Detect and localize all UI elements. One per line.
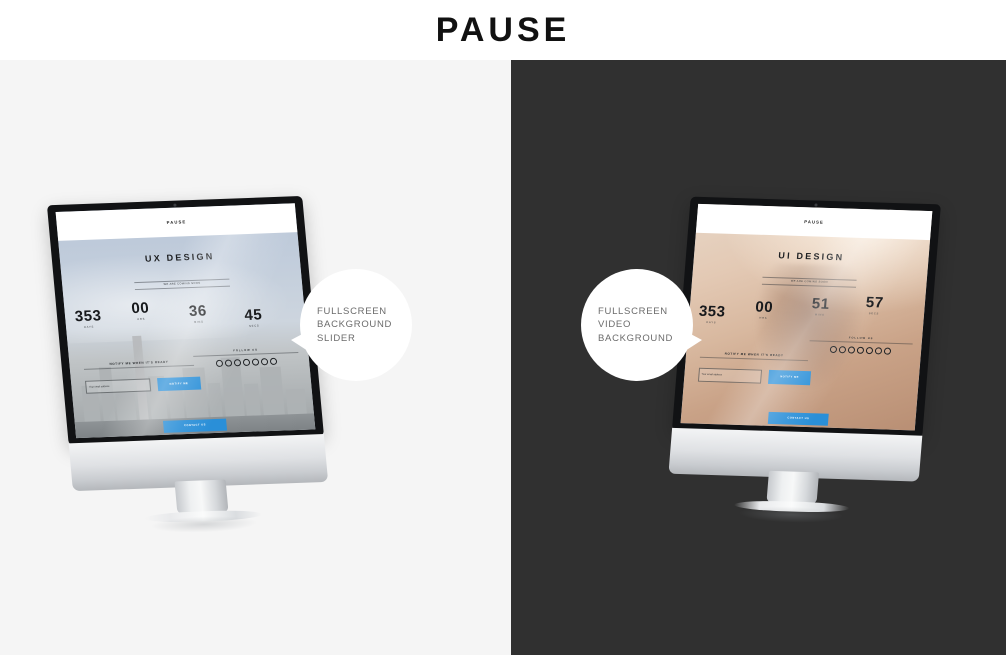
social-icon[interactable] <box>234 359 242 366</box>
monitor-reflection-left <box>150 514 259 534</box>
site-subtitle: WE ARE COMING SOON <box>134 279 230 290</box>
callout-bubble-right: FULLSCREEN VIDEO BACKGROUND <box>581 269 693 381</box>
monitor-stand-neck-right <box>766 471 819 504</box>
follow-section-left: FOLLOW US <box>193 347 300 368</box>
countdown-unit: 00 HRS <box>754 299 773 319</box>
website-preview-right: PAUSE UI DESIGN WE ARE COMING SOON 353 D… <box>681 204 933 430</box>
countdown-label: HRS <box>132 318 150 322</box>
notify-label: NOTIFY ME WHEN IT'S READY <box>84 359 195 370</box>
panel-right: PAUSE UI DESIGN WE ARE COMING SOON 353 D… <box>511 60 1006 655</box>
countdown-unit: 51 MINS <box>811 297 830 317</box>
countdown-label: DAYS <box>76 325 103 329</box>
countdown-label: MINS <box>190 320 208 324</box>
site-logo: PAUSE <box>804 219 824 225</box>
countdown-unit: 36 MINS <box>188 303 208 324</box>
countdown-value: 00 <box>131 301 150 317</box>
countdown-value: 36 <box>188 303 207 319</box>
site-heading: UI DESIGN <box>694 248 929 265</box>
email-field[interactable]: Your email address <box>698 368 762 383</box>
callout-text-right: FULLSCREEN VIDEO BACKGROUND <box>592 305 682 344</box>
countdown-unit: 353 DAYS <box>698 303 726 324</box>
social-icon[interactable] <box>865 347 873 354</box>
countdown-value: 51 <box>811 297 830 313</box>
imac-mockup-left: PAUSE UX DESIGN WE ARE COMING SOON 353 D… <box>47 196 332 534</box>
social-icons-row <box>808 345 912 355</box>
website-preview-left: PAUSE UX DESIGN WE ARE COMING SOON 353 D… <box>56 203 315 438</box>
follow-section-right: FOLLOW US <box>808 335 912 355</box>
notify-form-right: Your email address NOTIFY ME <box>698 368 811 385</box>
social-icon[interactable] <box>838 346 846 353</box>
imac-mockup-right: PAUSE UI DESIGN WE ARE COMING SOON 353 D… <box>665 197 941 524</box>
callout-right: FULLSCREEN VIDEO BACKGROUND <box>581 269 693 381</box>
callout-text-left: FULLSCREEN BACKGROUND SLIDER <box>311 305 401 344</box>
social-icon[interactable] <box>216 360 224 367</box>
social-icon[interactable] <box>883 347 891 354</box>
social-icons-row <box>194 357 300 368</box>
social-icon[interactable] <box>252 358 260 365</box>
social-icon[interactable] <box>270 358 278 365</box>
countdown-label: HRS <box>754 316 772 320</box>
social-icon[interactable] <box>243 359 251 366</box>
callout-tail-right <box>685 331 702 351</box>
countdown-unit: 00 HRS <box>131 301 151 322</box>
social-icon[interactable] <box>261 358 269 365</box>
contact-button[interactable]: CONTACT US <box>767 412 829 425</box>
monitor-stand-neck-left <box>174 479 228 514</box>
site-heading: UX DESIGN <box>60 248 300 267</box>
notify-button[interactable]: NOTIFY ME <box>768 370 812 385</box>
countdown-label: DAYS <box>698 320 725 324</box>
notify-label: NOTIFY ME WHEN IT'S READY <box>700 351 808 361</box>
site-logo: PAUSE <box>166 219 186 225</box>
site-content-right: UI DESIGN WE ARE COMING SOON 353 DAYS <box>681 232 930 430</box>
countdown-value: 45 <box>244 307 263 323</box>
monitor-screen-right: PAUSE UI DESIGN WE ARE COMING SOON 353 D… <box>681 204 933 430</box>
social-icon[interactable] <box>225 359 233 366</box>
social-icon[interactable] <box>847 346 855 353</box>
countdown-unit: 45 SECS <box>244 307 264 328</box>
camera-icon <box>814 203 817 206</box>
email-field[interactable]: Your email address <box>85 378 150 394</box>
monitor-screen-left: PAUSE UX DESIGN WE ARE COMING SOON 353 D… <box>56 203 315 438</box>
page-header: PAUSE <box>0 0 1006 60</box>
social-icon[interactable] <box>856 347 864 354</box>
site-content-left: UX DESIGN WE ARE COMING SOON 353 DAYS <box>58 233 315 438</box>
page-title: PAUSE <box>436 13 571 47</box>
countdown-label: MINS <box>811 314 829 318</box>
camera-icon <box>173 204 176 207</box>
monitor-body-left: PAUSE UX DESIGN WE ARE COMING SOON 353 D… <box>47 196 324 445</box>
countdown-unit: 57 SECS <box>865 295 884 315</box>
monitor-reflection-right <box>737 505 843 524</box>
countdown-label: SECS <box>245 324 263 328</box>
countdown-value: 57 <box>865 295 884 311</box>
site-subtitle: WE ARE COMING SOON <box>762 276 856 287</box>
countdown-value: 00 <box>755 299 774 315</box>
panel-left: PAUSE UX DESIGN WE ARE COMING SOON 353 D… <box>0 60 511 655</box>
callout-bubble-left: FULLSCREEN BACKGROUND SLIDER <box>300 269 412 381</box>
callout-left: FULLSCREEN BACKGROUND SLIDER <box>300 269 412 381</box>
notify-button[interactable]: NOTIFY ME <box>157 376 202 391</box>
social-icon[interactable] <box>874 347 882 354</box>
countdown-value: 353 <box>698 303 726 319</box>
notify-form-left: Your email address NOTIFY ME <box>85 376 201 394</box>
monitor-body-right: PAUSE UI DESIGN WE ARE COMING SOON 353 D… <box>672 197 941 438</box>
countdown-label: SECS <box>865 312 883 316</box>
panels-container: PAUSE UX DESIGN WE ARE COMING SOON 353 D… <box>0 60 1006 655</box>
social-icon[interactable] <box>829 346 837 353</box>
countdown-unit: 353 DAYS <box>74 308 102 329</box>
countdown-value: 353 <box>74 308 102 324</box>
callout-tail-left <box>291 331 308 351</box>
presentation-page: PAUSE <box>0 0 1006 655</box>
contact-button[interactable]: CONTACT US <box>163 419 226 433</box>
